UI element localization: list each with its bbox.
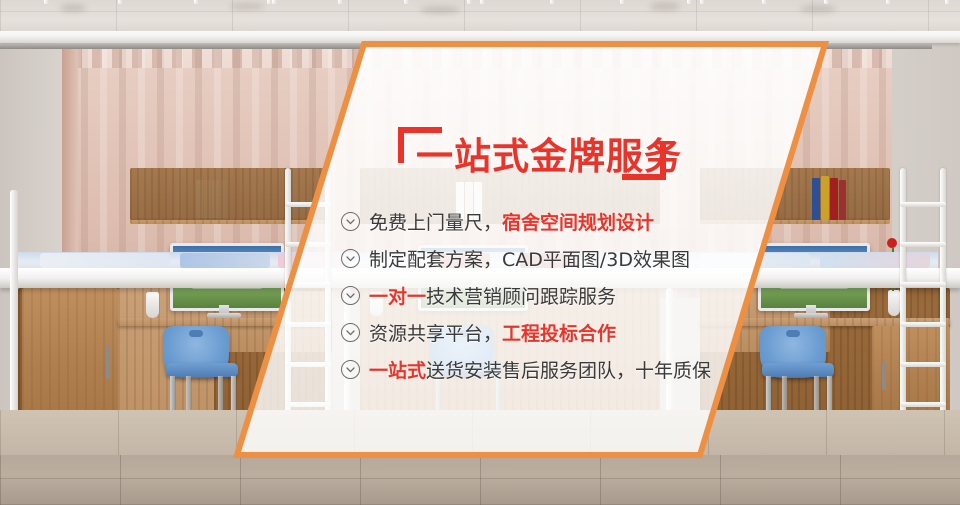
feature-list-item: 资源共享平台，工程投标合作 [341, 314, 761, 351]
chevron-down-circle-icon [341, 360, 360, 379]
bracket-top-left-vertical [398, 127, 404, 163]
feature-list-item: 免费上门量尺，宿舍空间规划设计 [341, 203, 761, 240]
feature-text-plain: 免费上门量尺， [369, 212, 502, 234]
feature-text-plain: 技术营销顾问跟踪服务 [426, 286, 616, 308]
feature-text-highlight: 一对一 [369, 286, 426, 308]
feature-list-item-label: 制定配套方案，CAD平面图/3D效果图 [369, 245, 690, 272]
chevron-down-circle-icon [341, 212, 360, 231]
feature-list-item-label: 一站式送货安装售后服务团队，十年质保 [369, 356, 711, 383]
feature-list: 免费上门量尺，宿舍空间规划设计制定配套方案，CAD平面图/3D效果图一对一技术营… [341, 203, 761, 388]
feature-list-item: 一对一技术营销顾问跟踪服务 [341, 277, 761, 314]
title-block: 一站式金牌服务 [390, 118, 680, 190]
feature-text-plain: 送货安装售后服务团队，十年质保 [426, 360, 711, 382]
feature-list-item: 制定配套方案，CAD平面图/3D效果图 [341, 240, 761, 277]
feature-text-plain: 制定配套方案，CAD平面图/3D效果图 [369, 249, 690, 271]
feature-list-item-label: 一对一技术营销顾问跟踪服务 [369, 282, 616, 309]
bracket-bottom-right-vertical [660, 144, 666, 180]
feature-text-highlight: 宿舍空间规划设计 [502, 212, 654, 234]
feature-list-item: 一站式送货安装售后服务团队，十年质保 [341, 351, 761, 388]
feature-list-item-label: 资源共享平台，工程投标合作 [369, 319, 616, 346]
feature-text-highlight: 一站式 [369, 360, 426, 382]
banner-content: 一站式金牌服务 免费上门量尺，宿舍空间规划设计制定配套方案，CAD平面图/3D效… [0, 0, 960, 505]
banner-stage: AS [0, 0, 960, 505]
chevron-down-circle-icon [341, 249, 360, 268]
feature-text-highlight: 工程投标合作 [502, 323, 616, 345]
feature-list-item-label: 免费上门量尺，宿舍空间规划设计 [369, 208, 654, 235]
page-title: 一站式金牌服务 [416, 126, 682, 180]
feature-text-plain: 资源共享平台， [369, 323, 502, 345]
chevron-down-circle-icon [341, 286, 360, 305]
chevron-down-circle-icon [341, 323, 360, 342]
